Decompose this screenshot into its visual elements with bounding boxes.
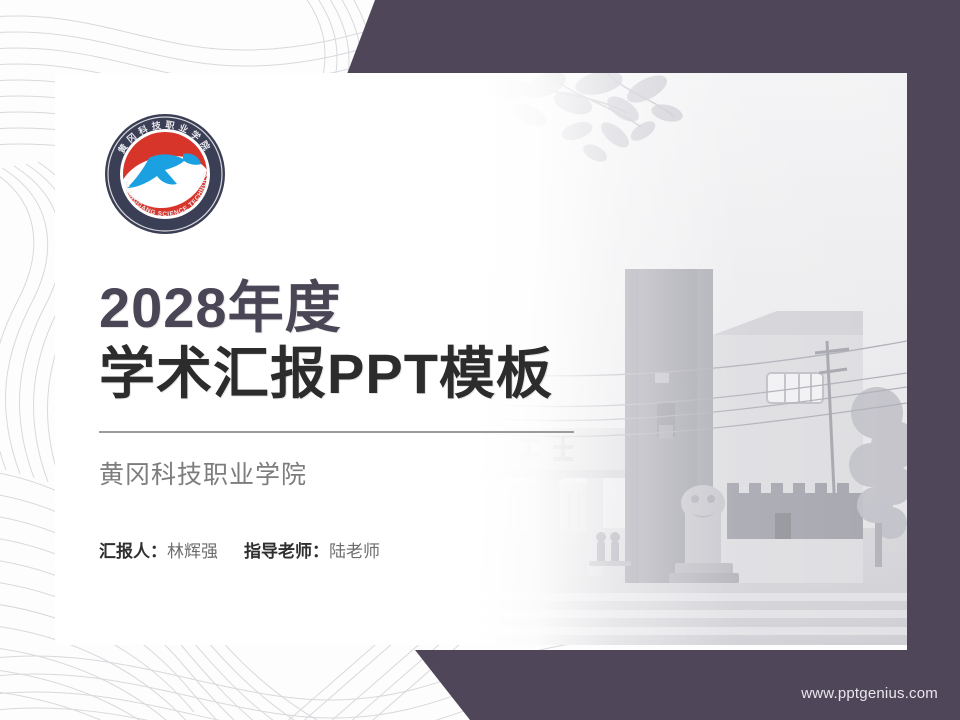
page-title-year: 2028年度 (99, 278, 659, 338)
title-divider (99, 431, 574, 433)
presentation-slide: 黄冈科技职业学院 HUANGGANG SCIENCE TECHNOLOGY 20… (0, 0, 960, 720)
advisor-name: 陆老师 (329, 542, 380, 561)
credits-line: 汇报人：林辉强指导老师：陆老师 (99, 537, 659, 562)
slide-content-card: 黄冈科技职业学院 HUANGGANG SCIENCE TECHNOLOGY 20… (55, 73, 907, 645)
site-watermark: www.pptgenius.com (801, 685, 938, 702)
presenter-name: 林辉强 (167, 542, 218, 561)
page-title-main: 学术汇报PPT模板 (99, 344, 659, 404)
advisor-label: 指导老师： (244, 542, 329, 561)
presenter-label: 汇报人： (99, 542, 167, 561)
title-text-block: 2028年度 学术汇报PPT模板 黄冈科技职业学院 汇报人：林辉强指导老师：陆老… (99, 278, 659, 562)
organization-name: 黄冈科技职业学院 (99, 455, 659, 491)
college-logo-icon: 黄冈科技职业学院 HUANGGANG SCIENCE TECHNOLOGY (99, 108, 231, 240)
